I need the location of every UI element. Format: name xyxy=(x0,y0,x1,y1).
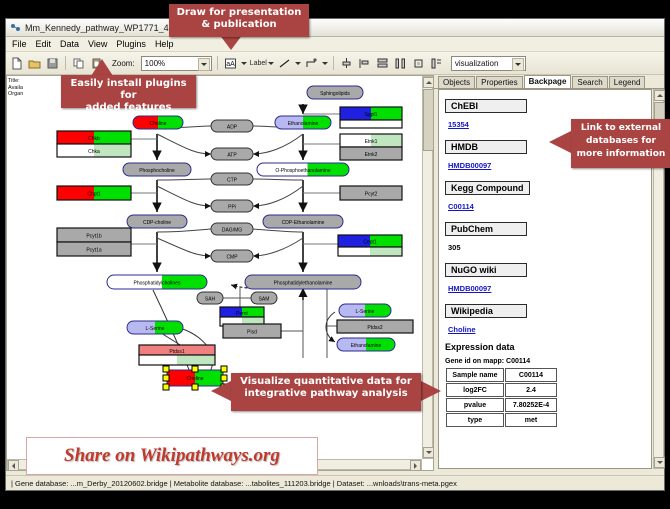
pathway-info-strip: Title: Availa Organ xyxy=(7,76,37,100)
svg-text:Etnk2: Etnk2 xyxy=(365,152,378,158)
database-name-wikipedia: Wikipedia xyxy=(445,304,527,318)
canvas-vertical-scrollbar[interactable] xyxy=(422,76,433,459)
callout-visualize: Visualize quantitative data for integrat… xyxy=(231,373,421,411)
menu-item-edit[interactable]: Edit xyxy=(36,39,52,49)
row-value: 7.80252E-4 xyxy=(505,398,557,412)
toolbar-separator xyxy=(65,56,66,70)
stack-icon[interactable] xyxy=(375,56,390,71)
callout-plugins-arrow-icon xyxy=(91,59,113,76)
cofactor-node-sam[interactable]: SAM xyxy=(251,292,277,304)
cofactor-node-dag-mg[interactable]: DAG/MG xyxy=(211,223,253,235)
callout-link: Link to external databases for more info… xyxy=(571,119,670,168)
callout-draw-line1: Draw for presentation xyxy=(169,7,309,19)
new-icon[interactable] xyxy=(9,56,24,71)
callout-visualize-arrow-right-icon xyxy=(421,381,441,401)
svg-text:Ptdss1: Ptdss1 xyxy=(169,349,185,355)
menu-item-help[interactable]: Help xyxy=(155,39,174,49)
svg-text:aA: aA xyxy=(226,61,235,68)
svg-text:Pisd: Pisd xyxy=(247,330,257,336)
database-entry-pubchem: PubChem 305 xyxy=(445,219,651,255)
row-key: pvalue xyxy=(446,398,504,412)
svg-text:Chkb: Chkb xyxy=(88,136,100,142)
svg-text:Cept1: Cept1 xyxy=(363,240,377,246)
chevron-down-icon[interactable] xyxy=(322,62,328,65)
svg-text:PPi: PPi xyxy=(228,205,236,211)
share-banner: Share on Wikipathways.org xyxy=(26,437,318,475)
cofactor-node-cmp[interactable]: CMP xyxy=(211,250,253,262)
database-link-kegg[interactable]: C00114 xyxy=(448,202,474,211)
svg-text:SAH: SAH xyxy=(205,297,216,303)
tab-objects[interactable]: Objects xyxy=(438,76,475,88)
metabolite-node-phosphocholine[interactable]: Phosphocholine xyxy=(123,163,191,176)
gene-node-pcyt1b[interactable]: Pcyt1b xyxy=(57,228,131,242)
align-left-icon[interactable] xyxy=(357,56,372,71)
gene-node-chka[interactable]: Chka xyxy=(57,144,131,157)
database-name-nugo: NuGO wiki xyxy=(445,263,527,277)
canvas-vscroll-thumb[interactable] xyxy=(423,89,434,151)
info-organism-label: Organ xyxy=(8,91,36,98)
menu-item-view[interactable]: View xyxy=(88,39,107,49)
chevron-down-icon[interactable] xyxy=(241,62,247,65)
database-entry-kegg: Kegg Compound C00114 xyxy=(445,178,651,214)
copy-icon[interactable] xyxy=(71,56,86,71)
svg-text:ATP: ATP xyxy=(227,153,237,159)
svg-text:Ptdss2: Ptdss2 xyxy=(367,325,383,331)
status-text: | Gene database: ...m_Derby_20120602.bri… xyxy=(11,479,457,488)
gene-node-sgpl1-lower[interactable] xyxy=(340,120,402,128)
gene-node-pcyt2[interactable]: Pcyt2 xyxy=(340,186,402,200)
row-key: Sample name xyxy=(446,368,504,382)
gene-node-pemt[interactable]: Pemt xyxy=(220,307,264,317)
metabolite-node-cdp-ethanolamine[interactable]: CDP-Ethanolamine xyxy=(263,215,343,228)
svg-text:Choline: Choline xyxy=(187,376,204,382)
scroll-up-icon[interactable] xyxy=(423,77,434,88)
svg-text:Sphingolipids: Sphingolipids xyxy=(320,91,350,97)
callout-draw-line2: & publication xyxy=(169,19,309,31)
svg-text:Phosphocholine: Phosphocholine xyxy=(139,168,175,174)
expression-data-table: Sample name C00114 log2FC 2.4 pvalue 7.8… xyxy=(445,367,558,428)
callout-link-line2: databases for xyxy=(571,135,670,148)
svg-text:CDP-Ethanolamine: CDP-Ethanolamine xyxy=(282,220,325,226)
metabolite-node-choline-top[interactable]: Choline xyxy=(133,116,183,129)
zoom-combobox[interactable]: 100% xyxy=(141,56,212,71)
database-link-hmdb[interactable]: HMDB00097 xyxy=(448,161,491,170)
row-value: C00114 xyxy=(505,368,557,382)
align-top-icon[interactable] xyxy=(339,56,354,71)
callout-plugins: Easily install plugins for added feature… xyxy=(61,75,196,108)
group-icon[interactable] xyxy=(411,56,426,71)
share-banner-text: Share on Wikipathways.org xyxy=(64,445,280,467)
svg-text:DAG/MG: DAG/MG xyxy=(222,228,242,234)
row-value: met xyxy=(505,413,557,427)
svg-text:Chpt1: Chpt1 xyxy=(87,192,101,198)
chevron-down-icon[interactable] xyxy=(295,62,301,65)
svg-text:L-Serine: L-Serine xyxy=(356,309,375,315)
table-row: log2FC 2.4 xyxy=(446,383,557,397)
database-link-nugo[interactable]: HMDB00097 xyxy=(448,284,491,293)
menu-item-file[interactable]: File xyxy=(12,39,27,49)
window-titlebar: Mm_Kennedy_pathway_WP1771_45176.gpml xyxy=(6,19,664,37)
gene-id-label: Gene id on mapp: C00114 xyxy=(445,358,651,365)
label-tool-label: Label xyxy=(250,60,267,67)
gene-node-etnk1[interactable]: Etnk1 xyxy=(340,134,402,147)
gene-node-ptdss2[interactable]: Ptdss2 xyxy=(337,320,413,333)
cofactor-node-adp[interactable]: ADP xyxy=(211,120,253,132)
scroll-left-icon[interactable] xyxy=(8,460,19,471)
gene-node-cept1[interactable]: Cept1 xyxy=(338,235,402,247)
zoom-value: 100% xyxy=(145,59,165,68)
metabolite-node-phosphatidylcholines[interactable]: Phosphatidylcholines xyxy=(107,275,207,289)
gene-node-sgpl1[interactable]: Sgpl1 xyxy=(340,107,402,120)
gene-node-chpt1[interactable]: Chpt1 xyxy=(57,186,131,200)
tab-search[interactable]: Search xyxy=(572,76,607,88)
callout-plugins-line1: Easily install plugins for xyxy=(61,78,196,102)
gene-node-ptdss1[interactable]: Ptdss1 xyxy=(139,345,215,355)
visualization-combobox[interactable]: visualization xyxy=(451,56,526,71)
metabolite-node-cdp-choline[interactable]: CDP-choline xyxy=(127,215,187,228)
svg-text:Pcyt1a: Pcyt1a xyxy=(86,248,102,254)
callout-link-arrow-icon xyxy=(549,131,571,153)
table-row: type met xyxy=(446,413,557,427)
svg-text:Phosphatidylcholines: Phosphatidylcholines xyxy=(134,281,181,287)
cofactor-node-atp[interactable]: ATP xyxy=(211,148,253,160)
gene-node-chkb[interactable]: Chkb xyxy=(57,131,131,144)
gene-node-ptdss1-lower[interactable] xyxy=(139,355,215,365)
metabolite-node-l-serine-left[interactable]: L-Serine xyxy=(127,321,183,334)
svg-text:Chka: Chka xyxy=(88,149,100,155)
metabolite-node-o-phosphoethanolamine[interactable]: O-Phosphoethanolamine xyxy=(257,163,349,176)
scroll-down-icon[interactable] xyxy=(423,447,434,458)
scroll-right-icon[interactable] xyxy=(410,460,421,471)
database-link-wikipedia[interactable]: Choline xyxy=(448,325,476,334)
database-name-kegg: Kegg Compound xyxy=(445,181,530,195)
row-value: 2.4 xyxy=(505,383,557,397)
gene-node-pisd[interactable]: Pisd xyxy=(223,324,281,338)
database-name-pubchem: PubChem xyxy=(445,222,527,236)
chevron-down-icon[interactable] xyxy=(512,58,524,71)
label-tool[interactable]: Label xyxy=(250,60,274,67)
row-key: type xyxy=(446,413,504,427)
svg-text:CDP-choline: CDP-choline xyxy=(143,220,171,226)
chevron-down-icon[interactable] xyxy=(198,58,210,71)
cofactor-node-ppi[interactable]: PPi xyxy=(211,200,253,212)
pathvisio-icon xyxy=(10,22,21,33)
toolbar-separator xyxy=(333,56,334,70)
svg-text:Etnk1: Etnk1 xyxy=(365,139,378,145)
database-value-pubchem: 305 xyxy=(448,243,461,252)
svg-text:L-Serine: L-Serine xyxy=(146,326,165,332)
connector-icon[interactable] xyxy=(304,56,319,71)
callout-visualize-arrow-left-icon xyxy=(211,381,231,401)
metabolite-node-ethanolamine-top[interactable]: Ethanolamine xyxy=(275,116,331,129)
database-name-hmdb: HMDB xyxy=(445,140,527,154)
svg-text:Sgpl1: Sgpl1 xyxy=(365,112,378,118)
metabolite-node-l-serine-right[interactable]: L-Serine xyxy=(339,304,391,317)
layout-icon[interactable] xyxy=(429,56,444,71)
callout-plugins-line2: added features xyxy=(61,102,196,114)
save-icon[interactable] xyxy=(45,56,60,71)
tab-backpage[interactable]: Backpage xyxy=(524,75,572,88)
open-icon[interactable] xyxy=(27,56,42,71)
svg-text:Pcyt1b: Pcyt1b xyxy=(86,234,102,240)
callout-link-line1: Link to external xyxy=(571,122,670,135)
database-entry-wikipedia: Wikipedia Choline xyxy=(445,301,651,337)
scroll-up-icon[interactable] xyxy=(654,90,665,101)
svg-text:CTP: CTP xyxy=(227,178,238,184)
svg-text:Ethanolamine: Ethanolamine xyxy=(288,121,319,127)
menu-item-plugins[interactable]: Plugins xyxy=(116,39,146,49)
callout-visualize-line2: integrative pathway analysis xyxy=(231,388,421,400)
metabolite-node-sphingolipids[interactable]: Sphingolipids xyxy=(307,86,363,99)
distribute-icon[interactable] xyxy=(393,56,408,71)
text-icon[interactable]: aA xyxy=(223,56,238,71)
svg-text:CMP: CMP xyxy=(226,255,238,261)
table-row: Sample name C00114 xyxy=(446,368,557,382)
toolbar-separator xyxy=(217,56,218,70)
table-row: pvalue 7.80252E-4 xyxy=(446,398,557,412)
svg-text:Ethanolamine: Ethanolamine xyxy=(351,343,382,349)
menu-bar[interactable]: File Edit Data View Plugins Help xyxy=(6,37,664,52)
menu-item-data[interactable]: Data xyxy=(60,39,79,49)
pathway-editor[interactable]: Title: Availa Organ xyxy=(6,75,434,471)
svg-text:Pemt: Pemt xyxy=(236,311,248,317)
callout-link-line3: more information xyxy=(571,148,670,161)
pathvisio-window: Mm_Kennedy_pathway_WP1771_45176.gpml Fil… xyxy=(5,18,665,491)
gene-node-cept1-lower[interactable] xyxy=(338,247,402,256)
side-panel-tabs[interactable]: Objects Properties Backpage Search Legen… xyxy=(434,75,664,89)
visualization-value: visualization xyxy=(455,59,499,68)
database-link-chebi[interactable]: 15354 xyxy=(448,120,469,129)
svg-text:SAM: SAM xyxy=(259,297,270,303)
gene-node-pcyt1a[interactable]: Pcyt1a xyxy=(57,242,131,256)
svg-text:Phosphatidylethanolamine: Phosphatidylethanolamine xyxy=(274,281,333,287)
database-entry-nugo: NuGO wiki HMDB00097 xyxy=(445,260,651,296)
svg-text:Choline: Choline xyxy=(150,121,167,127)
status-bar: | Gene database: ...m_Derby_20120602.bri… xyxy=(6,475,664,490)
svg-text:ADP: ADP xyxy=(227,125,238,131)
scroll-down-icon[interactable] xyxy=(654,457,665,468)
cofactor-node-ctp[interactable]: CTP xyxy=(211,173,253,185)
expression-data-title: Expression data xyxy=(445,342,651,352)
metabolite-node-phosphatidylethanolamine[interactable]: Phosphatidylethanolamine xyxy=(245,275,361,289)
database-name-chebi: ChEBI xyxy=(445,99,527,113)
callout-draw: Draw for presentation & publication xyxy=(169,4,309,37)
svg-text:O-Phosphoethanolamine: O-Phosphoethanolamine xyxy=(275,168,331,174)
tab-legend[interactable]: Legend xyxy=(609,76,646,88)
gene-node-etnk2[interactable]: Etnk2 xyxy=(340,147,402,160)
tab-properties[interactable]: Properties xyxy=(476,76,522,88)
row-key: log2FC xyxy=(446,383,504,397)
line-icon[interactable] xyxy=(277,56,292,71)
zoom-label: Zoom: xyxy=(112,59,135,68)
svg-text:Pcyt2: Pcyt2 xyxy=(365,192,378,198)
metabolite-node-ethanolamine-lower[interactable]: Ethanolamine xyxy=(337,338,395,351)
cofactor-node-sah[interactable]: SAH xyxy=(197,292,223,304)
chevron-down-icon[interactable] xyxy=(268,62,274,65)
callout-visualize-line1: Visualize quantitative data for xyxy=(231,376,421,388)
